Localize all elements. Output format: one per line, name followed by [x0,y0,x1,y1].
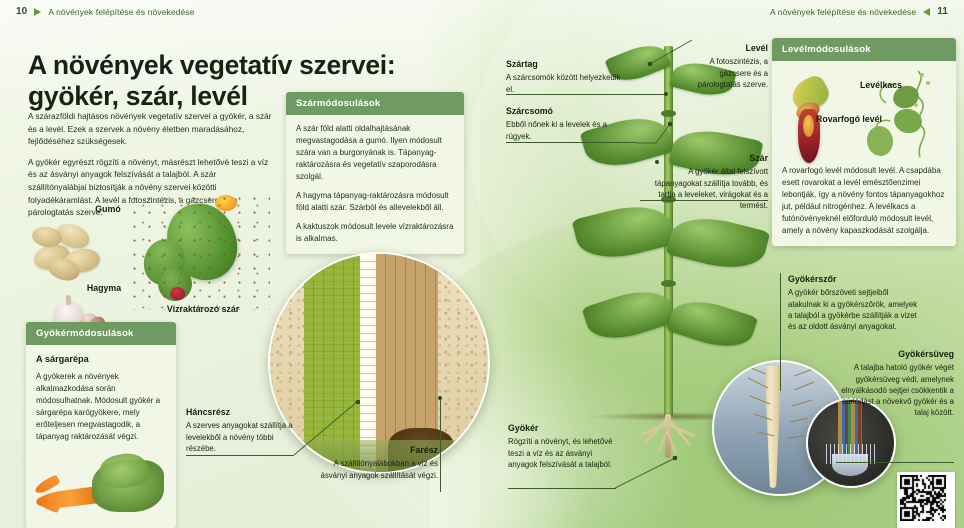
root-modifications-heading: Gyökérmódosulások [26,322,176,345]
root-hairs [826,444,876,464]
gyoker-rule [508,488,616,489]
label-levelkacs: Levélkacs [860,79,902,93]
leaf-mods-figure-area: Levélkacs Rovarfogó levél [782,65,946,165]
leaf-modifications-box: Levélmódosulások [772,38,956,246]
callout-level: Levél A fotoszintézis, a gázcsere és a p… [690,42,768,90]
gyokerszor-body: A gyökér bőrszöveti sejtjeiből alakulnak… [788,288,917,330]
gyokersuveg-body: A talajba hatoló gyökér végét gyökérsüve… [841,363,954,416]
textbook-spread: 10 A növények felépítése és növekedése A… [0,0,964,528]
leaf-mods-paragraph-1: A rovarfogó levél módosult levél. A csap… [782,165,946,237]
hancsresz-body: A szerves anyagokat szállítja a levelekb… [186,421,293,452]
callout-hancsresz: Háncsrész A szerves anyagokat szállítja … [186,406,294,454]
left-header-title: A növények felépítése és növekedése [48,7,194,17]
level-body: A fotoszintézis, a gázcsere és a párolog… [698,57,768,88]
gyoker-leader-line [615,456,677,490]
szarcsomo-leader-line [636,120,672,144]
szar-title: Szár [640,152,768,164]
callout-faresz: Farész A szállítónyalábokban a víz és ás… [310,444,438,481]
szartag-title: Szártag [506,58,626,70]
carrot-illustration [32,454,172,526]
hancsresz-rule [186,455,294,456]
stem-mods-paragraph-3: A kaktuszok módosult levele vízraktározá… [296,221,454,245]
root-mods-subheading: A sárgarépa [36,353,166,367]
label-hagyma: Hagyma [73,282,135,296]
plant-leaf-8 [666,292,758,356]
leaf-modifications-body: Levélkacs Rovarfogó levél A rovarfogó le… [772,61,956,246]
right-page-header: A növények felépítése és növekedése 11 [770,6,948,17]
szarcsomo-body: Ebből nőnek ki a levelek és a rügyek. [506,120,607,140]
stem-mods-paragraph-1: A szár föld alatti oldalhajtásának megva… [296,123,454,183]
plant-leaf-6 [666,209,770,277]
level-leader-line [646,38,694,66]
root-mods-paragraph-1: A gyökerek a növények alkalmazkodása sor… [36,371,166,443]
stem-modifications-heading: Szármódosulások [286,92,464,115]
label-rovarfogo-level: Rovarfogó levél [816,113,882,127]
faresz-leader-line [440,400,441,492]
gyokersuveg-rule [836,462,954,463]
gyokerszor-title: Gyökérszőr [788,273,918,285]
szarcsomo-title: Szárcsomó [506,105,631,117]
cactus-illustration [130,195,270,310]
qr-code[interactable] [897,472,955,528]
gyoker-body: Rögzíti a növényt, és lehetővé teszi a v… [508,437,612,468]
left-page-number: 10 [16,6,27,17]
szar-rule [640,200,768,201]
callout-szar: Szár A gyökér által felszívott tápanyago… [640,152,768,211]
szartag-rule [506,94,666,95]
intro-paragraph-1: A szárazföldi hajtásos növények vegetatí… [28,110,273,148]
gyokersuveg-title: Gyökérsüveg [836,348,954,360]
callout-szartag: Szártag A szárcsomók között helyezkedik … [506,58,626,95]
hancsresz-title: Háncsrész [186,406,294,418]
plant-leaf-7 [582,282,677,349]
potato-illustration [30,215,110,285]
szar-leader-dot [655,160,659,164]
stem-node-1 [661,110,676,117]
right-page-number: 11 [937,6,948,17]
callout-gyoker: Gyökér Rögzíti a növényt, és lehetővé te… [508,422,616,470]
szartag-body: A szárcsomók között helyezkedik el. [506,73,620,93]
callout-szarcsomo: Szárcsomó Ebből nőnek ki a levelek és a … [506,105,631,142]
left-page-header: 10 A növények felépítése és növekedése [16,6,195,17]
szartag-leader-dot [664,92,668,96]
label-vizraktarozo-szar: Vízraktározó szár [148,303,258,317]
stem-mods-paragraph-2: A hagyma tápanyag-raktározásra módosult … [296,190,454,214]
szar-body: A gyökér által felszívott tápanyagokat s… [655,167,768,209]
faresz-leader-dot [438,396,442,400]
root-modifications-body: A sárgarépa A gyökerek a növények alkalm… [26,345,176,528]
stem-modifications-body: A szár föld alatti oldalhajtásának megva… [286,115,464,254]
right-header-title: A növények felépítése és növekedése [770,7,916,17]
next-arrow-icon [34,8,41,16]
stem-modifications-box: Szármódosulások A szár föld alatti oldal… [286,92,464,254]
callout-gyokersuveg: Gyökérsüveg A talajba hatoló gyökér végé… [836,348,954,418]
prev-arrow-icon [923,8,930,16]
szarcsomo-rule [506,142,636,143]
callout-gyokerszor: Gyökérszőr A gyökér bőrszöveti sejtjeibő… [788,273,918,332]
root-modifications-box: Gyökérmódosulások A sárgarépa A gyökerek… [26,322,176,528]
gyoker-title: Gyökér [508,422,616,434]
leaf-modifications-heading: Levélmódosulások [772,38,956,61]
label-gumo: Gumó [78,203,138,217]
faresz-title: Farész [310,444,438,456]
level-title: Levél [690,42,768,54]
faresz-body: A szállítónyalábokban a víz és ásványi a… [321,459,438,479]
stem-node-3 [661,280,676,287]
gyokerszor-leader-line [780,273,781,391]
